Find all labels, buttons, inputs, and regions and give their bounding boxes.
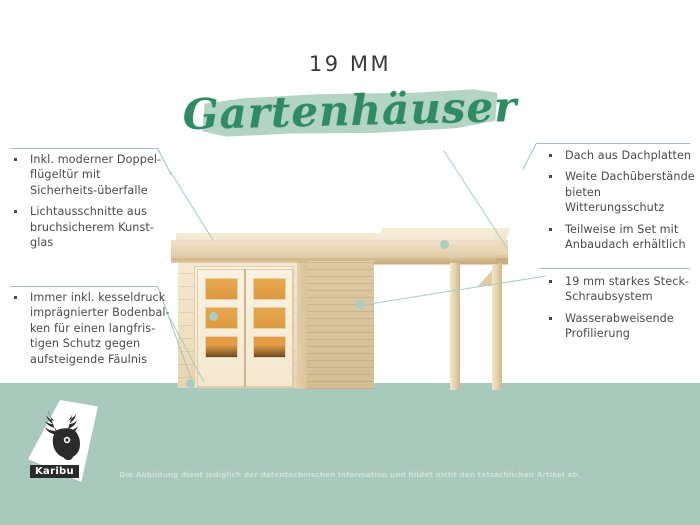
callout-item: Inkl. moderner Doppel-flügeltür mit Sich… [10, 152, 170, 198]
callout-system: 19 mm starkes Steck-Schraubsystem Wasser… [545, 274, 695, 348]
door-center-joint [244, 269, 246, 387]
page-title-wrapper: Gartenhäuser [0, 86, 700, 142]
connector-dot-floor [186, 379, 195, 388]
callout-top-rule [10, 148, 158, 149]
callout-top-rule [10, 286, 158, 287]
glass-pane [253, 307, 286, 329]
callout-item: Dach aus Dachplatten [545, 148, 695, 163]
callout-top-rule [537, 143, 690, 144]
side-wall [307, 262, 374, 389]
callout-item: Lichtausschnitte aus bruchsicherem Kunst… [10, 204, 170, 250]
support-post-left [450, 262, 460, 390]
callout-item: Teilweise im Set mit Anbaudach erhältlic… [545, 222, 695, 253]
wall-corner-post [297, 258, 307, 389]
callout-item: Immer inkl. kesseldruck imprägnierter Bo… [10, 290, 170, 367]
disclaimer-text: Die Abbildung dient lediglich der datent… [0, 470, 700, 479]
connector-dot-system [356, 300, 365, 309]
callout-item: 19 mm starkes Steck-Schraubsystem [545, 274, 695, 305]
callout-item: Wasserabweisende Profilierung [545, 311, 695, 342]
roof-edge-shadow [171, 258, 496, 263]
glass-pane [253, 278, 286, 300]
glass-pane [253, 336, 286, 358]
callout-diagonal-rule [522, 143, 537, 170]
ground-area [0, 388, 700, 525]
glass-pane [205, 278, 238, 300]
glass-pane [205, 336, 238, 358]
door-leaf-right [245, 269, 293, 387]
door-leaf-left [197, 269, 245, 387]
callout-item: Weite Dachüberstände bieten Witterungssc… [545, 169, 695, 215]
callout-top-rule [539, 268, 690, 269]
page-title: Gartenhäuser [0, 77, 700, 143]
double-door [194, 266, 294, 388]
page-subtitle: 19 MM [0, 52, 700, 76]
callout-floor-beams: Immer inkl. kesseldruck imprägnierter Bo… [10, 290, 170, 373]
connector-dot-door [209, 312, 218, 321]
connector-dot-roof [440, 240, 449, 249]
callout-roof: Dach aus Dachplatten Weite Dachüberständ… [545, 148, 695, 258]
product-infographic: 19 MM Gartenhäuser [0, 0, 700, 525]
deer-head-icon [34, 406, 88, 462]
callout-door-glass: Inkl. moderner Doppel-flügeltür mit Sich… [10, 152, 170, 256]
